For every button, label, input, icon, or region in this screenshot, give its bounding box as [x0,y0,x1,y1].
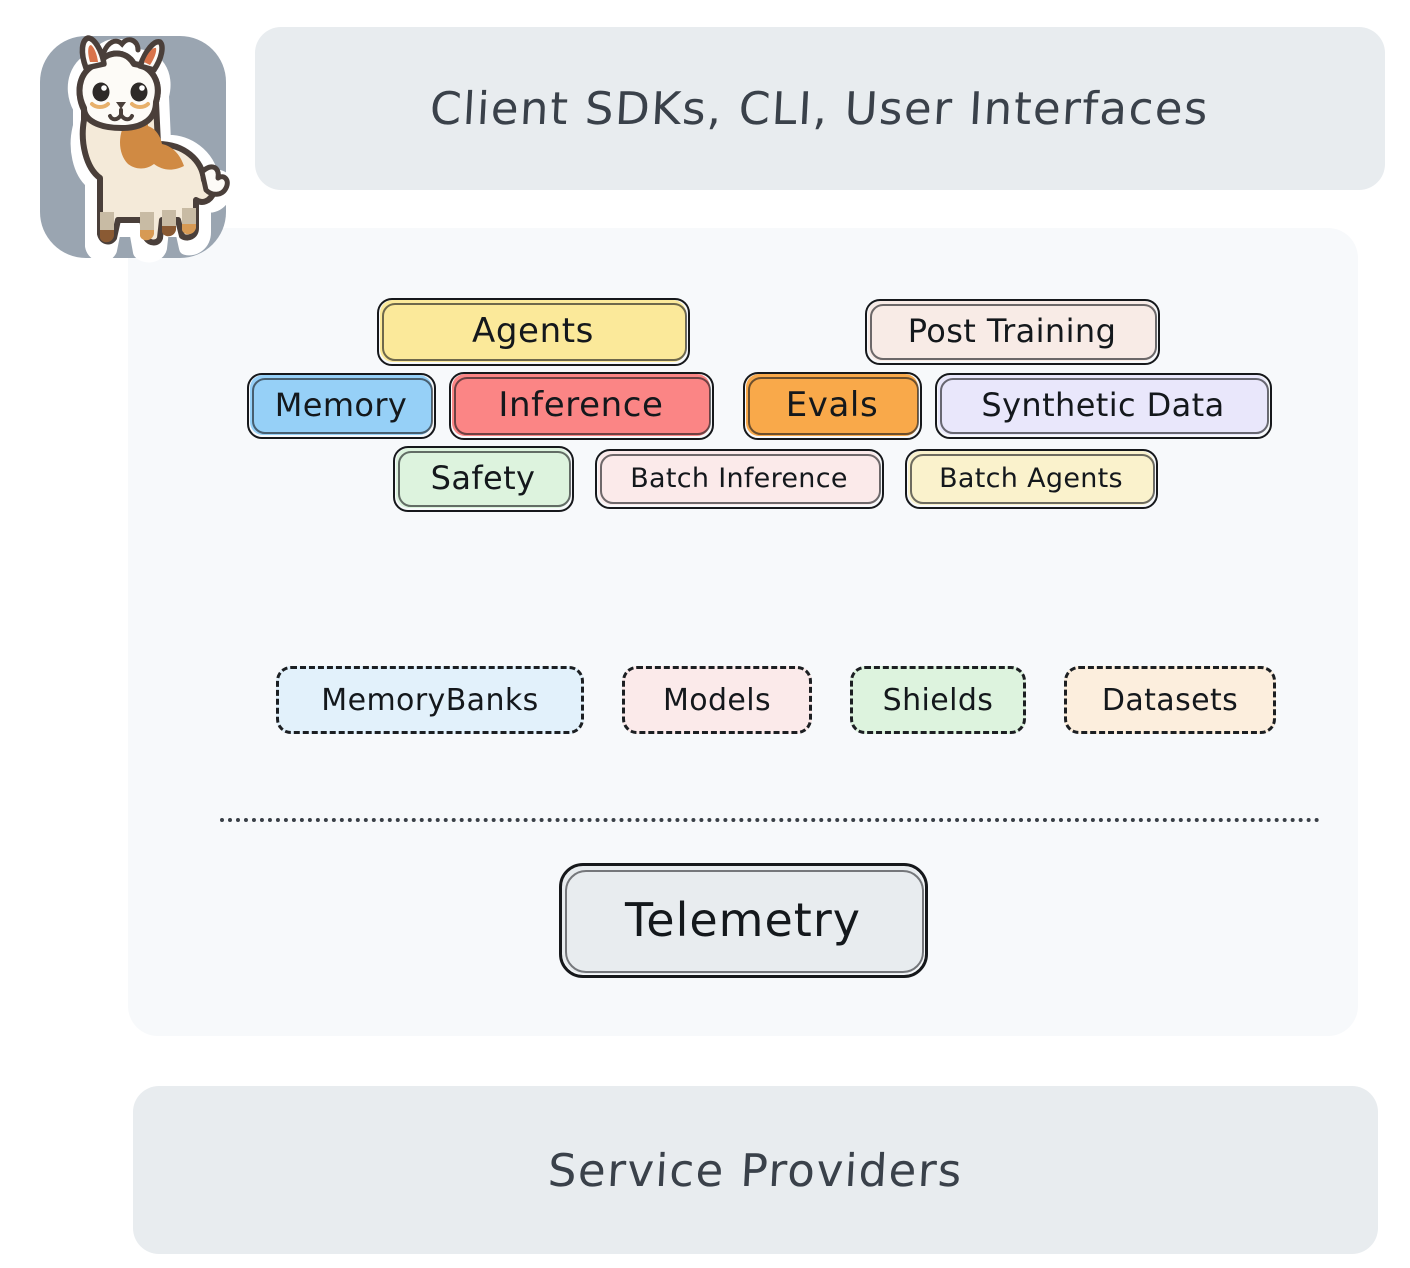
api-box-batch-agents-label: Batch Agents [939,463,1123,494]
api-box-safety-label: Safety [431,459,536,497]
resource-box-shields-label: Shields [883,683,994,718]
api-box-agents[interactable]: Agents [380,300,686,362]
resource-box-models[interactable]: Models [622,666,812,734]
api-box-inference-label: Inference [498,385,663,425]
api-box-synthetic-data-label: Synthetic Data [981,386,1224,424]
resource-box-memorybanks-label: MemoryBanks [321,683,538,718]
service-providers-banner: Service Providers [133,1086,1378,1254]
api-row-2: Memory Inference Evals Synthetic Data [128,374,1358,436]
api-box-evals[interactable]: Evals [746,374,918,436]
api-row-1: Agents Post Training [128,300,1358,362]
api-box-safety[interactable]: Safety [396,448,570,508]
api-box-agents-label: Agents [472,311,594,351]
client-sdk-banner: Client SDKs, CLI, User Interfaces [255,27,1385,190]
api-box-batch-inference[interactable]: Batch Inference [598,451,880,505]
resource-box-models-label: Models [663,683,771,718]
resource-box-datasets-label: Datasets [1102,683,1238,718]
llama-logo-icon [22,22,242,272]
resource-box-memorybanks[interactable]: MemoryBanks [276,666,584,734]
section-divider [220,818,1320,822]
resource-box-datasets[interactable]: Datasets [1064,666,1276,734]
telemetry-label: Telemetry [625,893,861,947]
api-box-post-training[interactable]: Post Training [868,301,1156,361]
api-box-batch-agents[interactable]: Batch Agents [908,451,1154,505]
service-providers-banner-label: Service Providers [547,1144,965,1197]
resource-box-shields[interactable]: Shields [850,666,1026,734]
resource-boxes-group: MemoryBanks Models Shields Datasets [128,666,1358,734]
diagram-canvas: Client SDKs, CLI, User Interfaces [0,0,1410,1268]
api-box-memory[interactable]: Memory [250,375,432,435]
telemetry-group: Telemetry [128,866,1358,974]
api-box-evals-label: Evals [786,385,879,425]
api-box-inference[interactable]: Inference [452,374,710,436]
api-box-memory-label: Memory [275,386,408,424]
api-boxes-group: Agents Post Training Memory Inference Ev… [128,300,1358,520]
client-sdk-banner-label: Client SDKs, CLI, User Interfaces [429,82,1211,135]
llama-stack-container: Agents Post Training Memory Inference Ev… [128,228,1358,1036]
llama-logo [22,22,242,272]
telemetry-box[interactable]: Telemetry [562,866,924,974]
api-box-batch-inference-label: Batch Inference [630,463,848,494]
api-box-post-training-label: Post Training [908,312,1117,350]
api-box-synthetic-data[interactable]: Synthetic Data [938,375,1268,435]
api-row-3: Safety Batch Inference Batch Agents [128,448,1358,508]
